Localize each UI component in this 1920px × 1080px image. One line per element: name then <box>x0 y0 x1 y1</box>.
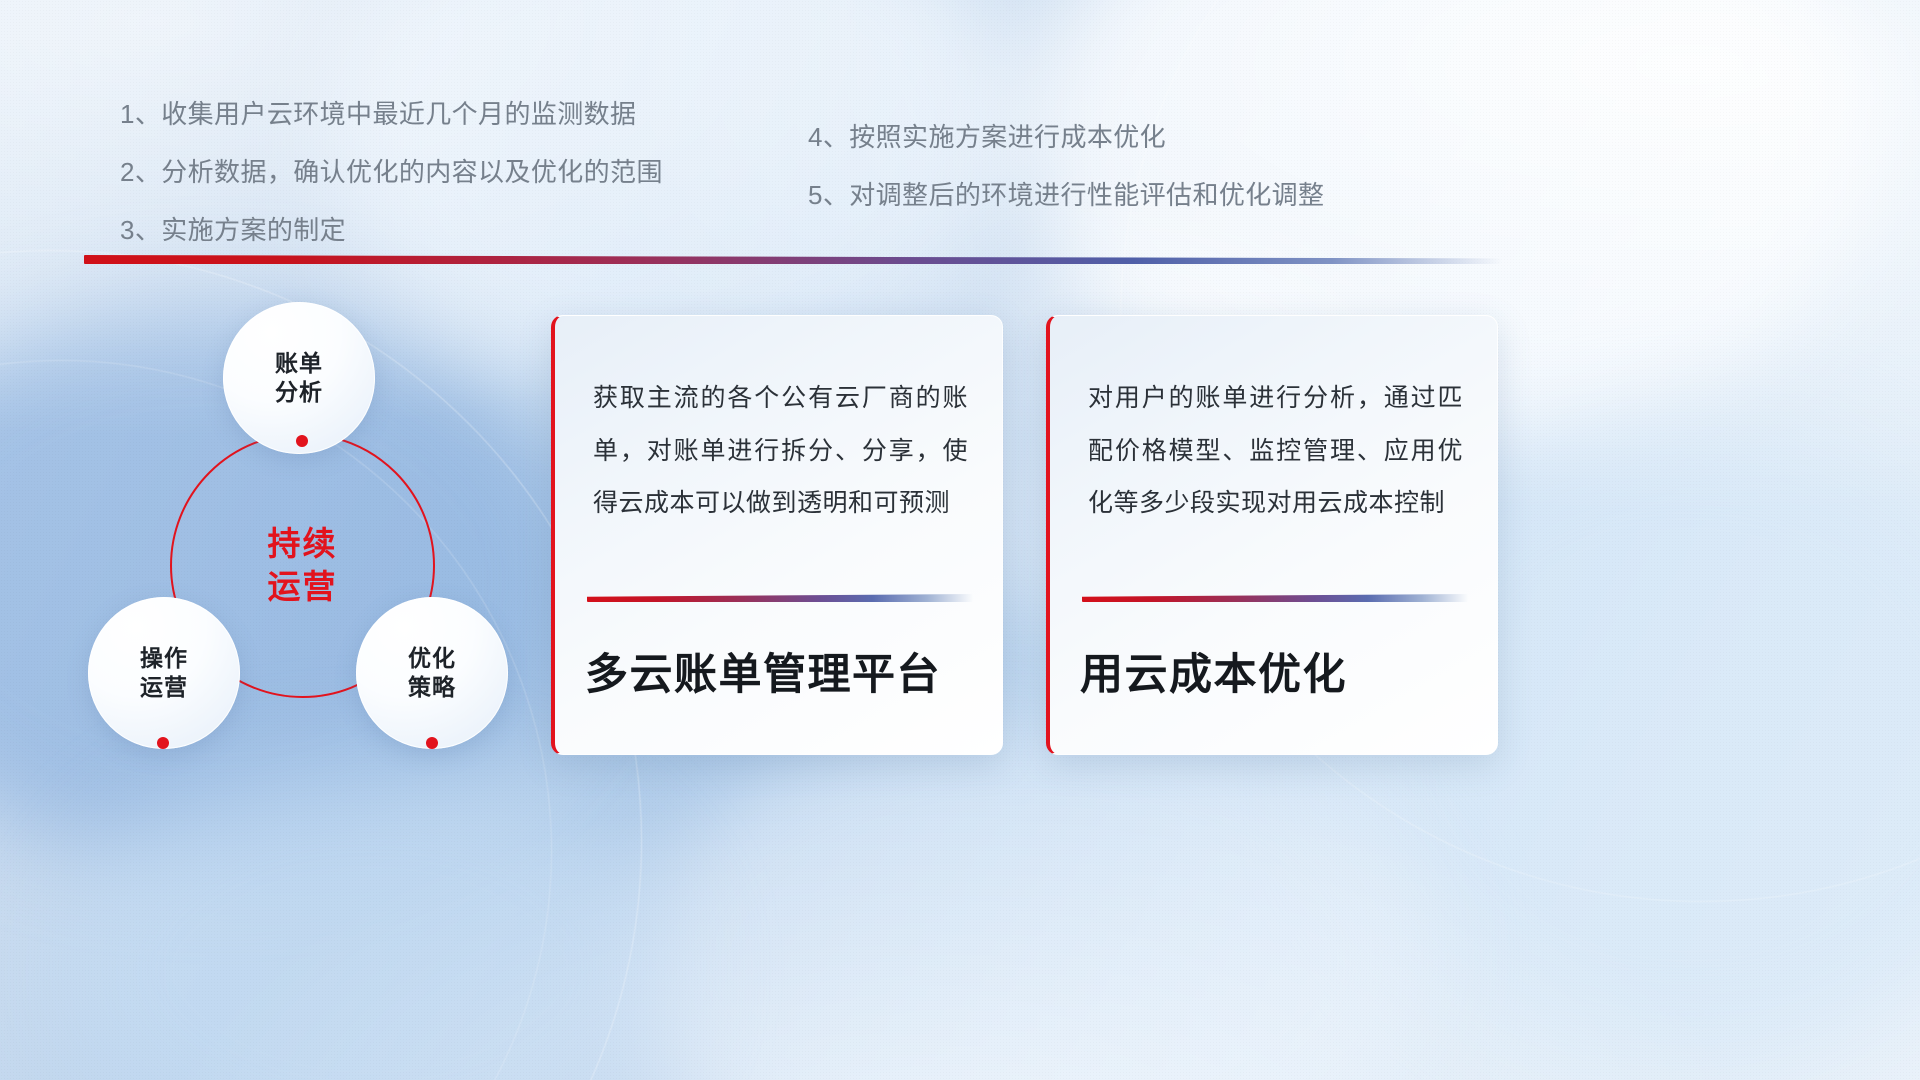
step-item: 5、对调整后的环境进行性能评估和优化调整 <box>808 181 1324 211</box>
feature-card-body: 获取主流的各个公有云厂商的账单，对账单进行拆分、分享，使得云成本可以做到透明和可… <box>593 372 968 530</box>
step-item: 1、收集用户云环境中最近几个月的监测数据 <box>120 100 663 130</box>
feature-card-cloud-cost-optimization[interactable]: 对用户的账单进行分析，通过匹配价格模型、监控管理、应用优化等多少段实现对用云成本… <box>1046 315 1498 755</box>
steps-right-column: 4、按照实施方案进行成本优化 5、对调整后的环境进行性能评估和优化调整 <box>808 123 1324 239</box>
venn-node-optimization-strategy[interactable]: 优化 策略 <box>356 597 508 749</box>
venn-connector-dot <box>296 435 308 447</box>
venn-node-label-line1: 优化 <box>408 644 456 673</box>
feature-card-title: 用云成本优化 <box>1080 640 1347 702</box>
feature-card-divider <box>587 594 973 602</box>
venn-connector-dot <box>426 737 438 749</box>
venn-node-billing-analysis[interactable]: 账单 分析 <box>223 302 375 454</box>
venn-node-operation-management[interactable]: 操作 运营 <box>88 597 240 749</box>
venn-center-label-line1: 持续 <box>268 523 338 566</box>
step-item: 2、分析数据，确认优化的内容以及优化的范围 <box>120 158 663 188</box>
venn-node-label-line1: 账单 <box>275 349 323 378</box>
feature-card-divider <box>1082 594 1468 602</box>
venn-connector-dot <box>157 737 169 749</box>
venn-center-label-line2: 运营 <box>268 566 338 609</box>
venn-node-label-line2: 运营 <box>140 673 188 702</box>
venn-diagram: 持续 运营 账单 分析 操作 运营 优化 策略 <box>78 292 548 762</box>
step-item: 4、按照实施方案进行成本优化 <box>808 123 1324 153</box>
venn-node-label-line2: 分析 <box>275 378 323 407</box>
feature-card-multi-cloud-billing-platform[interactable]: 获取主流的各个公有云厂商的账单，对账单进行拆分、分享，使得云成本可以做到透明和可… <box>551 315 1003 755</box>
venn-node-label-line2: 策略 <box>408 673 456 702</box>
feature-card-title: 多云账单管理平台 <box>585 640 941 702</box>
feature-card-body: 对用户的账单进行分析，通过匹配价格模型、监控管理、应用优化等多少段实现对用云成本… <box>1088 372 1463 530</box>
venn-node-label-line1: 操作 <box>140 644 188 673</box>
step-item: 3、实施方案的制定 <box>120 216 663 246</box>
steps-left-column: 1、收集用户云环境中最近几个月的监测数据 2、分析数据，确认优化的内容以及优化的… <box>120 100 663 274</box>
